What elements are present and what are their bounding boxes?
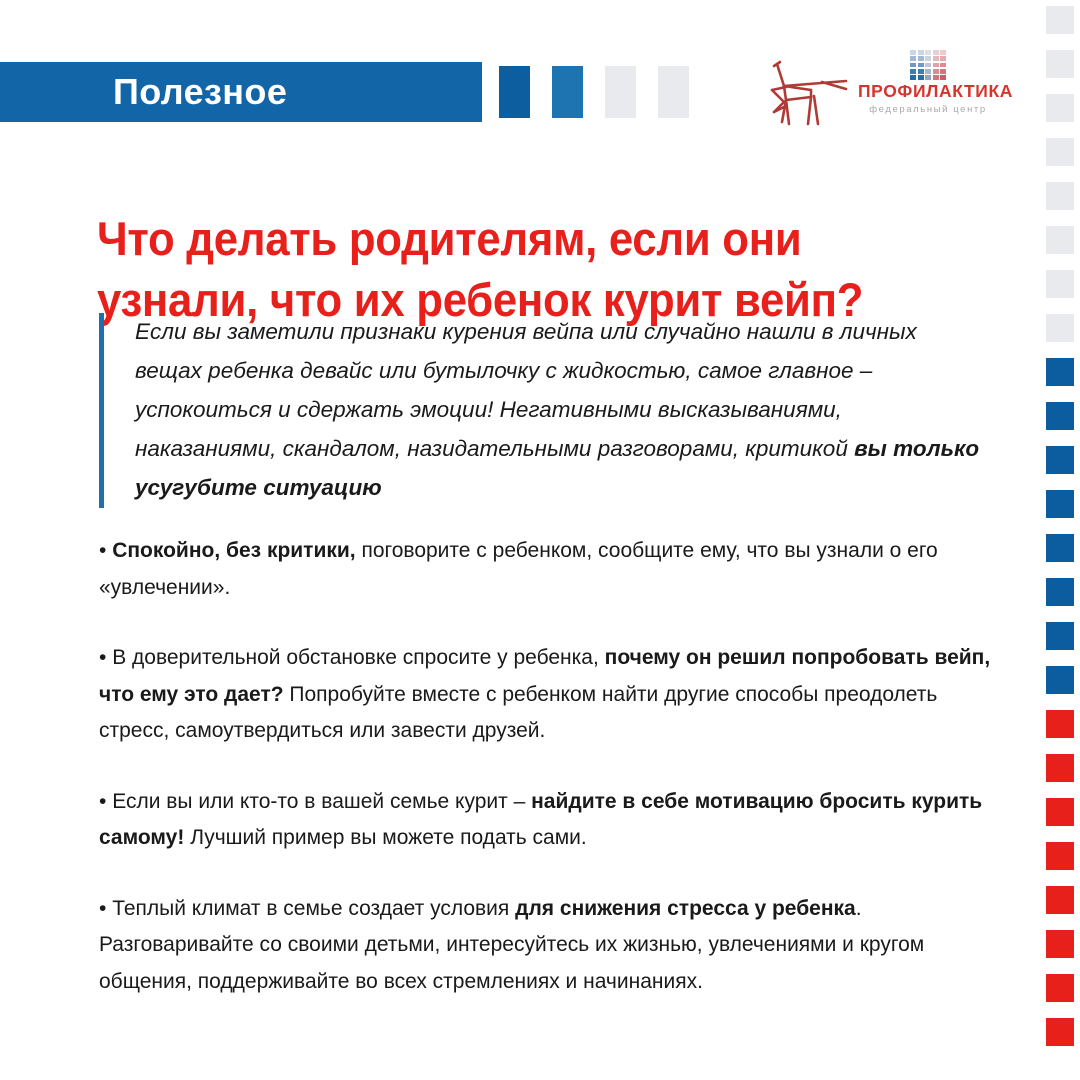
- header-banner: Полезное: [0, 62, 482, 122]
- edge-strip-square: [1046, 226, 1074, 254]
- edge-strip-square: [1046, 138, 1074, 166]
- logo-subtitle: федеральный центр: [858, 105, 998, 115]
- edge-strip-square: [1046, 710, 1074, 738]
- bullet-text-emphasis: Спокойно, без критики,: [112, 539, 355, 562]
- pixel-grid-cell: [925, 69, 931, 74]
- pixel-grid-cell: [933, 75, 939, 80]
- pixel-grid-cell: [940, 56, 946, 61]
- edge-strip-square: [1046, 182, 1074, 210]
- pixel-grid-cell: [933, 56, 939, 61]
- pixel-grid-cell: [918, 75, 924, 80]
- edge-strip-square: [1046, 886, 1074, 914]
- edge-strip-square: [1046, 974, 1074, 1002]
- pixel-grid-cell: [925, 56, 931, 61]
- pixel-grid-cell: [910, 50, 916, 55]
- pixel-grid-cell: [910, 63, 916, 68]
- bullet-calm-no-criticism: • Спокойно, без критики, поговорите с ре…: [99, 533, 994, 606]
- pixel-grid-cell: [910, 75, 916, 80]
- header-banner-label: Полезное: [113, 74, 287, 110]
- bullet-marker: •: [99, 646, 112, 669]
- edge-strip-square: [1046, 358, 1074, 386]
- pixel-grid-cell: [918, 69, 924, 74]
- lead-quote-text: Если вы заметили признаки курения вейпа …: [135, 313, 989, 508]
- pixel-grid-cell: [933, 63, 939, 68]
- bullet-text-rest: Лучший пример вы можете подать сами.: [184, 826, 586, 849]
- bullet-text-lead: В доверительной обстановке спросите у ре…: [112, 646, 604, 669]
- lead-quote-plain: Если вы заметили признаки курения вейпа …: [135, 319, 917, 461]
- bullet-marker: •: [99, 790, 112, 813]
- header-square-1: [499, 66, 530, 118]
- page-title: Что делать родителям, если они узнали, ч…: [97, 209, 925, 329]
- page-title-line-1: Что делать родителям, если они: [97, 212, 801, 265]
- edge-strip-square: [1046, 622, 1074, 650]
- pixel-grid-cell: [925, 50, 931, 55]
- edge-strip-square: [1046, 578, 1074, 606]
- header-decorative-squares: [499, 66, 689, 118]
- edge-strip-square: [1046, 930, 1074, 958]
- edge-strip-square: [1046, 446, 1074, 474]
- bullet-marker: •: [99, 897, 112, 920]
- edge-strip-square: [1046, 402, 1074, 430]
- pixel-grid-cell: [918, 63, 924, 68]
- edge-strip-square: [1046, 754, 1074, 782]
- header-square-3: [605, 66, 636, 118]
- bullet-ask-why: • В доверительной обстановке спросите у …: [99, 640, 994, 750]
- pixel-grid-cell: [940, 75, 946, 80]
- pixel-grid-cell: [933, 50, 939, 55]
- edge-strip-square: [1046, 270, 1074, 298]
- pixel-grid-cell: [918, 50, 924, 55]
- pixel-grid-cell: [918, 56, 924, 61]
- edge-strip-square: [1046, 6, 1074, 34]
- edge-decorative-strip: [1040, 0, 1080, 1080]
- pixel-grid-cell: [940, 69, 946, 74]
- advice-list: • Спокойно, без критики, поговорите с ре…: [99, 533, 994, 1034]
- pixel-grid-cell: [940, 63, 946, 68]
- pixel-grid-cell: [910, 56, 916, 61]
- logo-title: ПРОФИЛАКТИКА: [858, 83, 998, 101]
- bullet-quit-yourself: • Если вы или кто-то в вашей семье курит…: [99, 784, 994, 857]
- bullet-text-lead: Теплый климат в семье создает условия: [112, 897, 515, 920]
- horse-line-art-icon: [762, 56, 848, 128]
- edge-strip-square: [1046, 314, 1074, 342]
- edge-strip-square: [1046, 842, 1074, 870]
- bullet-text-emphasis: для снижения стресса у ребенка: [515, 897, 856, 920]
- pixel-grid-cell: [925, 75, 931, 80]
- bullet-text-lead: Если вы или кто-то в вашей семье курит –: [112, 790, 531, 813]
- logo-wordmark: ПРОФИЛАКТИКА федеральный центр: [858, 50, 998, 114]
- pixel-grid-cell: [933, 69, 939, 74]
- pixel-grid-cell: [910, 69, 916, 74]
- header-square-2: [552, 66, 583, 118]
- edge-strip-square: [1046, 798, 1074, 826]
- pixel-grid-cell: [925, 63, 931, 68]
- bullet-warm-climate: • Теплый климат в семье создает условия …: [99, 891, 994, 1001]
- brand-logo: ПРОФИЛАКТИКА федеральный центр: [762, 50, 992, 128]
- pixel-grid-icon: [910, 50, 946, 80]
- bullet-marker: •: [99, 539, 112, 562]
- header-square-4: [658, 66, 689, 118]
- edge-strip-square: [1046, 534, 1074, 562]
- pixel-grid-cell: [940, 50, 946, 55]
- edge-strip-square: [1046, 1018, 1074, 1046]
- lead-quote-block: Если вы заметили признаки курения вейпа …: [99, 313, 989, 508]
- edge-strip-square: [1046, 490, 1074, 518]
- edge-strip-square: [1046, 666, 1074, 694]
